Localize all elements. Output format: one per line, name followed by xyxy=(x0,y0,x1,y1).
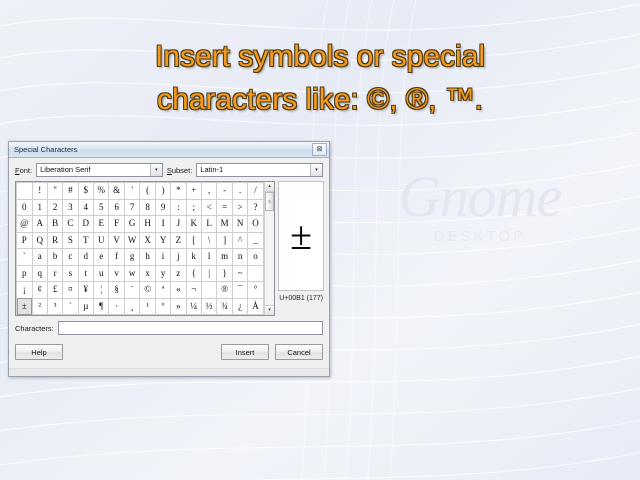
character-grid-row: 0123456789:;<=>? xyxy=(17,199,264,216)
character-cell[interactable]: º xyxy=(155,298,170,315)
font-subset-row: Font: Liberation Serif ▾ Subset: Latin-1… xyxy=(15,163,323,177)
character-cell[interactable]: w xyxy=(124,265,140,282)
slide-title-line-1: Insert symbols or special xyxy=(0,36,640,79)
character-cell[interactable]: ¤ xyxy=(63,282,78,299)
dialog-body: Font: Liberation Serif ▾ Subset: Latin-1… xyxy=(9,158,329,368)
character-cell[interactable]: n xyxy=(232,249,247,266)
character-grid-row: PQRSTUVWXYZ[\]^_ xyxy=(17,232,264,249)
character-cell[interactable]: = xyxy=(217,199,233,216)
character-cell[interactable]: 9 xyxy=(155,199,170,216)
characters-row: Characters: xyxy=(15,321,323,335)
character-cell[interactable]: : xyxy=(171,199,186,216)
character-cell[interactable]: ! xyxy=(32,183,47,200)
character-cell[interactable]: \ xyxy=(201,232,216,249)
character-cell[interactable]: µ xyxy=(78,298,93,315)
character-cell[interactable]: c xyxy=(63,249,78,266)
character-cell[interactable]: R xyxy=(47,232,62,249)
watermark-sub-text: DESKTOP xyxy=(330,228,630,245)
character-cell[interactable]: / xyxy=(248,183,264,200)
character-cell[interactable]: - xyxy=(217,183,233,200)
character-cell[interactable]: h xyxy=(140,249,155,266)
character-cell[interactable]: P xyxy=(17,232,33,249)
character-cell[interactable]: ¥ xyxy=(78,282,93,299)
character-cell[interactable]: ¹ xyxy=(140,298,155,315)
font-select-value: Liberation Serif xyxy=(37,164,150,176)
character-cell[interactable]: m xyxy=(217,249,233,266)
character-cell[interactable]: . xyxy=(232,183,247,200)
watermark-main-text: Gnome xyxy=(330,168,630,226)
character-cell[interactable]: A xyxy=(32,216,47,233)
character-cell[interactable]: ^ xyxy=(232,232,247,249)
character-cell[interactable]: U xyxy=(93,232,108,249)
character-cell[interactable]: t xyxy=(78,265,93,282)
characters-label: Characters: xyxy=(15,324,54,333)
character-cell[interactable]: ¬ xyxy=(186,282,201,299)
character-cell[interactable]: ¶ xyxy=(93,298,108,315)
character-cell[interactable]: ¢ xyxy=(32,282,47,299)
character-cell[interactable]: £ xyxy=(47,282,62,299)
character-grid-scrollbar[interactable]: ▴ ≡ ▾ xyxy=(264,182,274,315)
character-grid-row: @ABCDEFGHIJKLMNO xyxy=(17,216,264,233)
character-cell[interactable]: ' xyxy=(124,183,140,200)
character-cell[interactable]: 6 xyxy=(109,199,124,216)
character-grid[interactable]: !"#$%&'()*+,-./0123456789:;<=>?@ABCDEFGH… xyxy=(16,182,264,315)
character-cell[interactable]: @ xyxy=(17,216,33,233)
character-cell[interactable]: D xyxy=(78,216,93,233)
character-cell[interactable]: > xyxy=(232,199,247,216)
character-cell[interactable]: B xyxy=(47,216,62,233)
character-cell[interactable]: r xyxy=(47,265,62,282)
character-grid-row: !"#$%&'()*+,-./ xyxy=(17,183,264,200)
character-cell[interactable]: ` xyxy=(17,249,33,266)
character-cell[interactable]: 0 xyxy=(17,199,33,216)
character-cell[interactable]: a xyxy=(32,249,47,266)
subset-select-value: Latin-1 xyxy=(197,164,310,176)
character-cell[interactable]: ¦ xyxy=(93,282,108,299)
character-cell[interactable]: Q xyxy=(32,232,47,249)
character-cell[interactable]: K xyxy=(186,216,201,233)
character-cell[interactable]: ] xyxy=(217,232,233,249)
character-cell[interactable]: , xyxy=(201,183,216,200)
character-cell[interactable]: ¨ xyxy=(124,282,140,299)
character-cell[interactable]: _ xyxy=(248,232,264,249)
character-cell[interactable]: * xyxy=(171,183,186,200)
character-cell[interactable]: ( xyxy=(140,183,155,200)
character-cell[interactable]: 4 xyxy=(78,199,93,216)
character-cell[interactable]: » xyxy=(171,298,186,315)
character-browser: !"#$%&'()*+,-./0123456789:;<=>?@ABCDEFGH… xyxy=(15,181,323,316)
character-cell[interactable]: 3 xyxy=(63,199,78,216)
character-cell[interactable]: y xyxy=(155,265,170,282)
character-cell[interactable]: ´ xyxy=(63,298,78,315)
scroll-up-icon[interactable]: ▴ xyxy=(265,182,274,192)
character-cell[interactable]: T xyxy=(78,232,93,249)
dialog-button-row: Help Insert Cancel xyxy=(15,344,323,362)
character-cell[interactable]: < xyxy=(201,199,216,216)
character-cell[interactable]: S xyxy=(63,232,78,249)
character-cell[interactable]: l xyxy=(201,249,216,266)
character-cell[interactable]: M xyxy=(217,216,233,233)
character-cell[interactable]: ± xyxy=(17,298,33,315)
preview-column: ± U+00B1 (177) xyxy=(279,181,323,302)
dialog-titlebar[interactable]: Special Characters ⊠ xyxy=(9,142,329,158)
character-cell[interactable]: { xyxy=(186,265,201,282)
character-cell[interactable]: q xyxy=(32,265,47,282)
close-icon[interactable]: ⊠ xyxy=(312,143,327,156)
character-cell[interactable]: ¸ xyxy=(124,298,140,315)
character-cell[interactable]: f xyxy=(109,249,124,266)
character-cell[interactable]: ) xyxy=(155,183,170,200)
character-cell[interactable]: ¯ xyxy=(232,282,247,299)
character-cell[interactable]: # xyxy=(63,183,78,200)
character-cell[interactable]: ¿ xyxy=(232,298,247,315)
character-cell[interactable]: N xyxy=(232,216,247,233)
character-cell[interactable]: V xyxy=(109,232,124,249)
subset-label: Subset: xyxy=(167,166,192,175)
character-cell[interactable]: x xyxy=(140,265,155,282)
character-cell[interactable]: E xyxy=(93,216,108,233)
character-cell[interactable]: W xyxy=(124,232,140,249)
character-cell[interactable]: I xyxy=(155,216,170,233)
character-cell[interactable]: G xyxy=(124,216,140,233)
character-cell[interactable]: ® xyxy=(217,282,233,299)
character-grid-row: ±²³´µ¶·¸¹º»¼½¾¿À xyxy=(17,298,264,315)
slide-title-line-2: characters like: ©, ®, ™. xyxy=(0,79,640,122)
character-cell[interactable]: 5 xyxy=(93,199,108,216)
character-cell[interactable]: } xyxy=(217,265,233,282)
scrollbar-track[interactable] xyxy=(265,211,274,305)
character-cell[interactable]: & xyxy=(109,183,124,200)
character-cell[interactable]: " xyxy=(47,183,62,200)
character-cell[interactable]: ; xyxy=(186,199,201,216)
character-cell[interactable]: À xyxy=(248,298,264,315)
character-cell[interactable]: · xyxy=(109,298,124,315)
character-cell[interactable]: ­ xyxy=(201,282,216,299)
chevron-down-icon[interactable]: ▾ xyxy=(150,164,162,176)
character-cell[interactable]: ² xyxy=(32,298,47,315)
character-cell[interactable]: X xyxy=(140,232,155,249)
character-cell[interactable]: Y xyxy=(155,232,170,249)
character-cell[interactable]: 8 xyxy=(140,199,155,216)
character-cell[interactable]: p xyxy=(17,265,33,282)
character-cell[interactable]: s xyxy=(63,265,78,282)
character-cell[interactable] xyxy=(17,183,33,200)
character-grid-row: pqrstuvwxyz{|}~ xyxy=(17,265,264,282)
character-cell[interactable]: ª xyxy=(155,282,170,299)
character-grid-row: ¡¢£¤¥¦§¨©ª«¬­®¯° xyxy=(17,282,264,299)
scroll-down-icon[interactable]: ▾ xyxy=(265,305,274,315)
character-cell[interactable]: L xyxy=(201,216,216,233)
character-cell[interactable]: j xyxy=(171,249,186,266)
character-cell[interactable]: Z xyxy=(171,232,186,249)
character-cell[interactable]: v xyxy=(109,265,124,282)
scrollbar-thumb[interactable]: ≡ xyxy=(265,192,274,211)
character-cell[interactable]: 1 xyxy=(32,199,47,216)
character-cell[interactable]: ¾ xyxy=(217,298,233,315)
character-cell[interactable]: © xyxy=(140,282,155,299)
character-cell[interactable]: § xyxy=(109,282,124,299)
character-cell[interactable]: z xyxy=(171,265,186,282)
help-button[interactable]: Help xyxy=(15,344,63,360)
character-cell[interactable]: ³ xyxy=(47,298,62,315)
character-cell[interactable]: ¼ xyxy=(186,298,201,315)
dialog-title: Special Characters xyxy=(14,145,312,154)
character-cell[interactable]: O xyxy=(248,216,264,233)
chevron-down-icon[interactable]: ▾ xyxy=(310,164,322,176)
characters-input[interactable] xyxy=(58,321,323,335)
codepoint-label: U+00B1 (177) xyxy=(279,295,323,302)
character-cell[interactable]: ° xyxy=(248,282,264,299)
font-label: Font: xyxy=(15,166,32,175)
character-cell[interactable]: $ xyxy=(78,183,93,200)
character-cell[interactable]: C xyxy=(63,216,78,233)
character-cell[interactable]: + xyxy=(186,183,201,200)
dialog-footer xyxy=(9,368,329,376)
character-cell[interactable]: ½ xyxy=(201,298,216,315)
background-watermark: Gnome DESKTOP xyxy=(330,168,630,245)
character-cell[interactable]: o xyxy=(248,249,264,266)
character-cell[interactable]: J xyxy=(171,216,186,233)
character-cell[interactable]: H xyxy=(140,216,155,233)
character-cell[interactable]: ~ xyxy=(232,265,247,282)
character-cell[interactable]: ¡ xyxy=(17,282,33,299)
font-select[interactable]: Liberation Serif ▾ xyxy=(36,163,163,177)
character-grid-wrap: !"#$%&'()*+,-./0123456789:;<=>?@ABCDEFGH… xyxy=(15,181,275,316)
character-grid-row: `abcdefghijklmno xyxy=(17,249,264,266)
character-cell[interactable]: k xyxy=(186,249,201,266)
character-cell[interactable]: ? xyxy=(248,199,264,216)
slide-title: Insert symbols or special characters lik… xyxy=(0,36,640,121)
character-cell[interactable]: 7 xyxy=(124,199,140,216)
character-preview: ± xyxy=(278,181,324,291)
special-characters-dialog: Special Characters ⊠ Font: Liberation Se… xyxy=(8,141,330,377)
character-cell[interactable]: | xyxy=(201,265,216,282)
character-cell[interactable]: b xyxy=(47,249,62,266)
subset-select[interactable]: Latin-1 ▾ xyxy=(196,163,323,177)
cancel-button[interactable]: Cancel xyxy=(275,344,323,360)
character-cell[interactable]: d xyxy=(78,249,93,266)
character-cell[interactable]: g xyxy=(124,249,140,266)
insert-button[interactable]: Insert xyxy=(221,344,269,360)
character-cell[interactable]: u xyxy=(93,265,108,282)
character-cell[interactable]: « xyxy=(171,282,186,299)
character-cell[interactable]: % xyxy=(93,183,108,200)
character-cell[interactable]: i xyxy=(155,249,170,266)
character-cell[interactable]: F xyxy=(109,216,124,233)
character-cell[interactable]: e xyxy=(93,249,108,266)
character-cell[interactable]: 2 xyxy=(47,199,62,216)
character-cell[interactable] xyxy=(248,265,264,282)
character-cell[interactable]: [ xyxy=(186,232,201,249)
